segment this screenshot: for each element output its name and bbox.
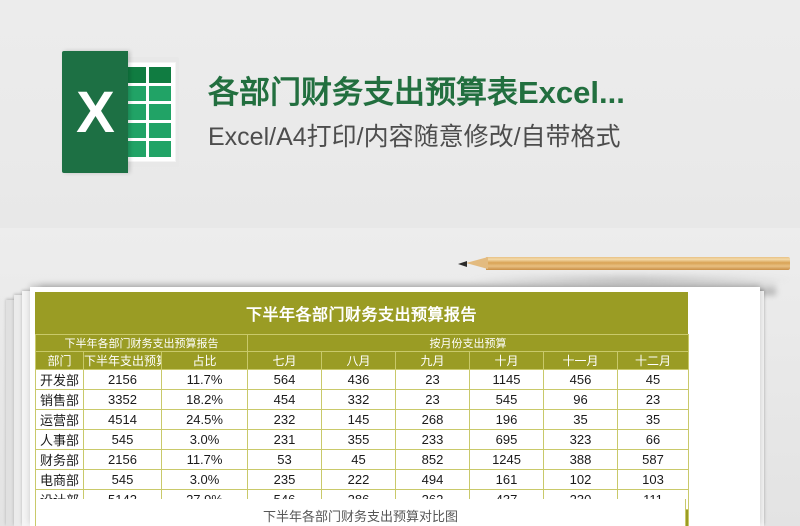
cell-dept: 运营部 [36,410,84,430]
cell-budget: 2156 [84,450,162,470]
cell-august: 145 [322,410,396,430]
pencil-body [486,257,790,270]
cell-november: 102 [544,470,618,490]
cell-december: 45 [618,370,689,390]
cell-july: 454 [248,390,322,410]
cell-november: 456 [544,370,618,390]
column-header-november: 十一月 [544,352,618,370]
table-row: 人事部 545 3.0% 231 355 233 695 323 66 [36,430,689,450]
group-header-right: 按月份支出预算 [248,335,689,352]
cell-share: 18.2% [162,390,248,410]
cell-share: 11.7% [162,450,248,470]
table-row: 运营部 4514 24.5% 232 145 268 196 35 35 [36,410,689,430]
cell-september: 23 [396,370,470,390]
cell-dept: 电商部 [36,470,84,490]
table-group-header-row: 下半年各部门财务支出预算报告 按月份支出预算 [36,335,689,352]
excel-logo-cell [149,86,172,102]
cell-december: 103 [618,470,689,490]
cell-budget: 3352 [84,390,162,410]
cell-september: 233 [396,430,470,450]
sheet-title: 下半年各部门财务支出预算报告 [35,292,688,334]
column-header-july: 七月 [248,352,322,370]
cell-share: 3.0% [162,470,248,490]
promo-subtitle: Excel/A4打印/内容随意修改/自带格式 [208,124,625,152]
promo-title: 各部门财务支出预算表Excel... [208,76,625,110]
cell-august: 45 [322,450,396,470]
promo-banner: X 各部门财务支出预算表Excel... Excel/A4打印/内容随意修改/自… [0,0,800,228]
cell-september: 494 [396,470,470,490]
column-header-december: 十二月 [618,352,689,370]
cell-july: 235 [248,470,322,490]
excel-logo-icon: X [62,51,182,173]
pencil-wood-cone [466,257,488,269]
cell-october: 1145 [470,370,544,390]
cell-august: 222 [322,470,396,490]
pencil-graphite-tip [458,261,467,267]
cell-share: 3.0% [162,430,248,450]
cell-budget: 545 [84,430,162,450]
column-header-october: 十月 [470,352,544,370]
cell-november: 388 [544,450,618,470]
cell-september: 268 [396,410,470,430]
cell-september: 23 [396,390,470,410]
cell-november: 35 [544,410,618,430]
table-row: 财务部 2156 11.7% 53 45 852 1245 388 587 [36,450,689,470]
cell-budget: 2156 [84,370,162,390]
cell-october: 196 [470,410,544,430]
cell-december: 35 [618,410,689,430]
cell-budget: 4514 [84,410,162,430]
cell-dept: 财务部 [36,450,84,470]
excel-logo-cell [149,67,172,83]
cell-november: 323 [544,430,618,450]
excel-logo-letter: X [62,51,128,173]
group-header-left: 下半年各部门财务支出预算报告 [36,335,248,352]
table-row: 销售部 3352 18.2% 454 332 23 545 96 23 [36,390,689,410]
excel-logo-cell [149,104,172,120]
column-header-share: 占比 [162,352,248,370]
cell-august: 332 [322,390,396,410]
excel-logo-cell [149,141,172,157]
cell-dept: 人事部 [36,430,84,450]
cell-dept: 销售部 [36,390,84,410]
cell-december: 23 [618,390,689,410]
cell-share: 11.7% [162,370,248,390]
cell-august: 355 [322,430,396,450]
table-row: 电商部 545 3.0% 235 222 494 161 102 103 [36,470,689,490]
cell-october: 161 [470,470,544,490]
spreadsheet: 下半年各部门财务支出预算报告 下半年各部门财务支出预算报告 按月份支出预算 [35,292,688,526]
cell-july: 53 [248,450,322,470]
cell-october: 1245 [470,450,544,470]
excel-logo-cell [149,123,172,139]
cell-december: 587 [618,450,689,470]
cell-october: 545 [470,390,544,410]
cell-share: 24.5% [162,410,248,430]
column-header-september: 九月 [396,352,470,370]
pencil-icon [458,257,790,270]
table-row: 开发部 2156 11.7% 564 436 23 1145 456 45 [36,370,689,390]
chart-area: 下半年各部门财务支出预算对比图 [35,499,686,526]
cell-dept: 开发部 [36,370,84,390]
cell-budget: 545 [84,470,162,490]
budget-table: 下半年各部门财务支出预算报告 按月份支出预算 部门 下半年支出预算 占比 七月 … [35,334,689,526]
chart-caption: 下半年各部门财务支出预算对比图 [36,499,685,525]
cell-july: 232 [248,410,322,430]
cell-october: 695 [470,430,544,450]
column-header-dept: 部门 [36,352,84,370]
cell-september: 852 [396,450,470,470]
cell-july: 564 [248,370,322,390]
column-header-budget: 下半年支出预算 [84,352,162,370]
table-header-row: 部门 下半年支出预算 占比 七月 八月 九月 十月 十一月 十二月 [36,352,689,370]
column-header-august: 八月 [322,352,396,370]
cell-august: 436 [322,370,396,390]
cell-december: 66 [618,430,689,450]
printed-document: 下半年各部门财务支出预算报告 下半年各部门财务支出预算报告 按月份支出预算 [30,287,760,526]
cell-november: 96 [544,390,618,410]
cell-july: 231 [248,430,322,450]
promo-text-block: 各部门财务支出预算表Excel... Excel/A4打印/内容随意修改/自带格… [208,76,625,152]
